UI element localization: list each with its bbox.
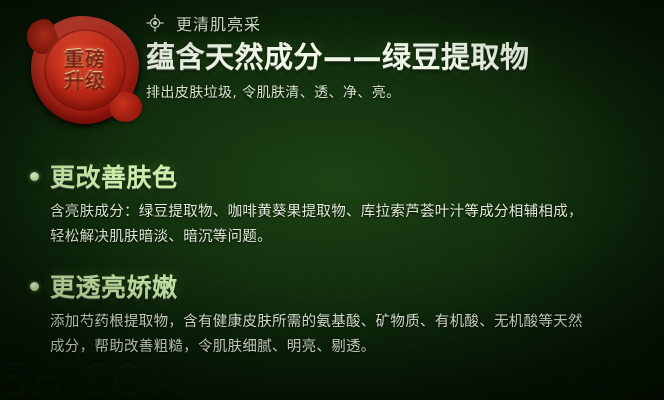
feature-1-line-1: 含亮肤成分：绿豆提取物、咖啡黄葵果提取物、库拉索芦荟叶汁等成分相辅相成， [50,200,654,225]
feature-1-heading-row: 更改善肤色 [30,158,654,194]
feature-section-1: 更改善肤色 含亮肤成分：绿豆提取物、咖啡黄葵果提取物、库拉索芦荟叶汁等成分相辅相… [30,158,654,250]
feature-2-line-1: 添加芍药根提取物，含有健康皮肤所需的氨基酸、矿物质、有机酸、无机酸等天然 [50,310,654,335]
feature-1-body: 含亮肤成分：绿豆提取物、咖啡黄葵果提取物、库拉索芦荟叶汁等成分相辅相成， 轻松解… [30,200,654,250]
wax-seal-line-1: 重磅 [64,48,106,70]
page-subtitle: 排出皮肤垃圾, 令肌肤清、透、净、亮。 [146,82,654,102]
feature-section-2: 更透亮娇嫩 添加芍药根提取物，含有健康皮肤所需的氨基酸、矿物质、有机酸、无机酸等… [30,268,654,360]
feature-2-heading-row: 更透亮娇嫩 [30,268,654,304]
bullet-dot-icon [30,282,39,291]
watermark: 5H.COM [2,353,186,400]
page-title: 蕴含天然成分——绿豆提取物 [146,40,654,75]
bullet-dot-icon [30,172,39,181]
feature-2-title: 更透亮娇嫩 [50,268,178,304]
eyebrow-text: 更清肌亮采 [176,11,261,35]
wax-seal-face: 重磅 升级 [44,29,126,111]
wax-seal-badge: 重磅 升级 [31,16,139,124]
feature-1-title: 更改善肤色 [50,158,178,194]
crosshair-icon [146,14,164,32]
header-block: 更清肌亮采 蕴含天然成分——绿豆提取物 排出皮肤垃圾, 令肌肤清、透、净、亮。 [146,10,654,102]
wax-seal-line-2: 升级 [64,70,106,92]
eyebrow-row: 更清肌亮采 [146,10,654,36]
product-promo-banner: 重磅 升级 更清肌亮采 蕴含天然成分——绿豆提取物 排出皮肤垃圾, 令肌肤清、透… [0,0,664,400]
feature-1-line-2: 轻松解决肌肤暗淡、暗沉等问题。 [50,225,654,250]
